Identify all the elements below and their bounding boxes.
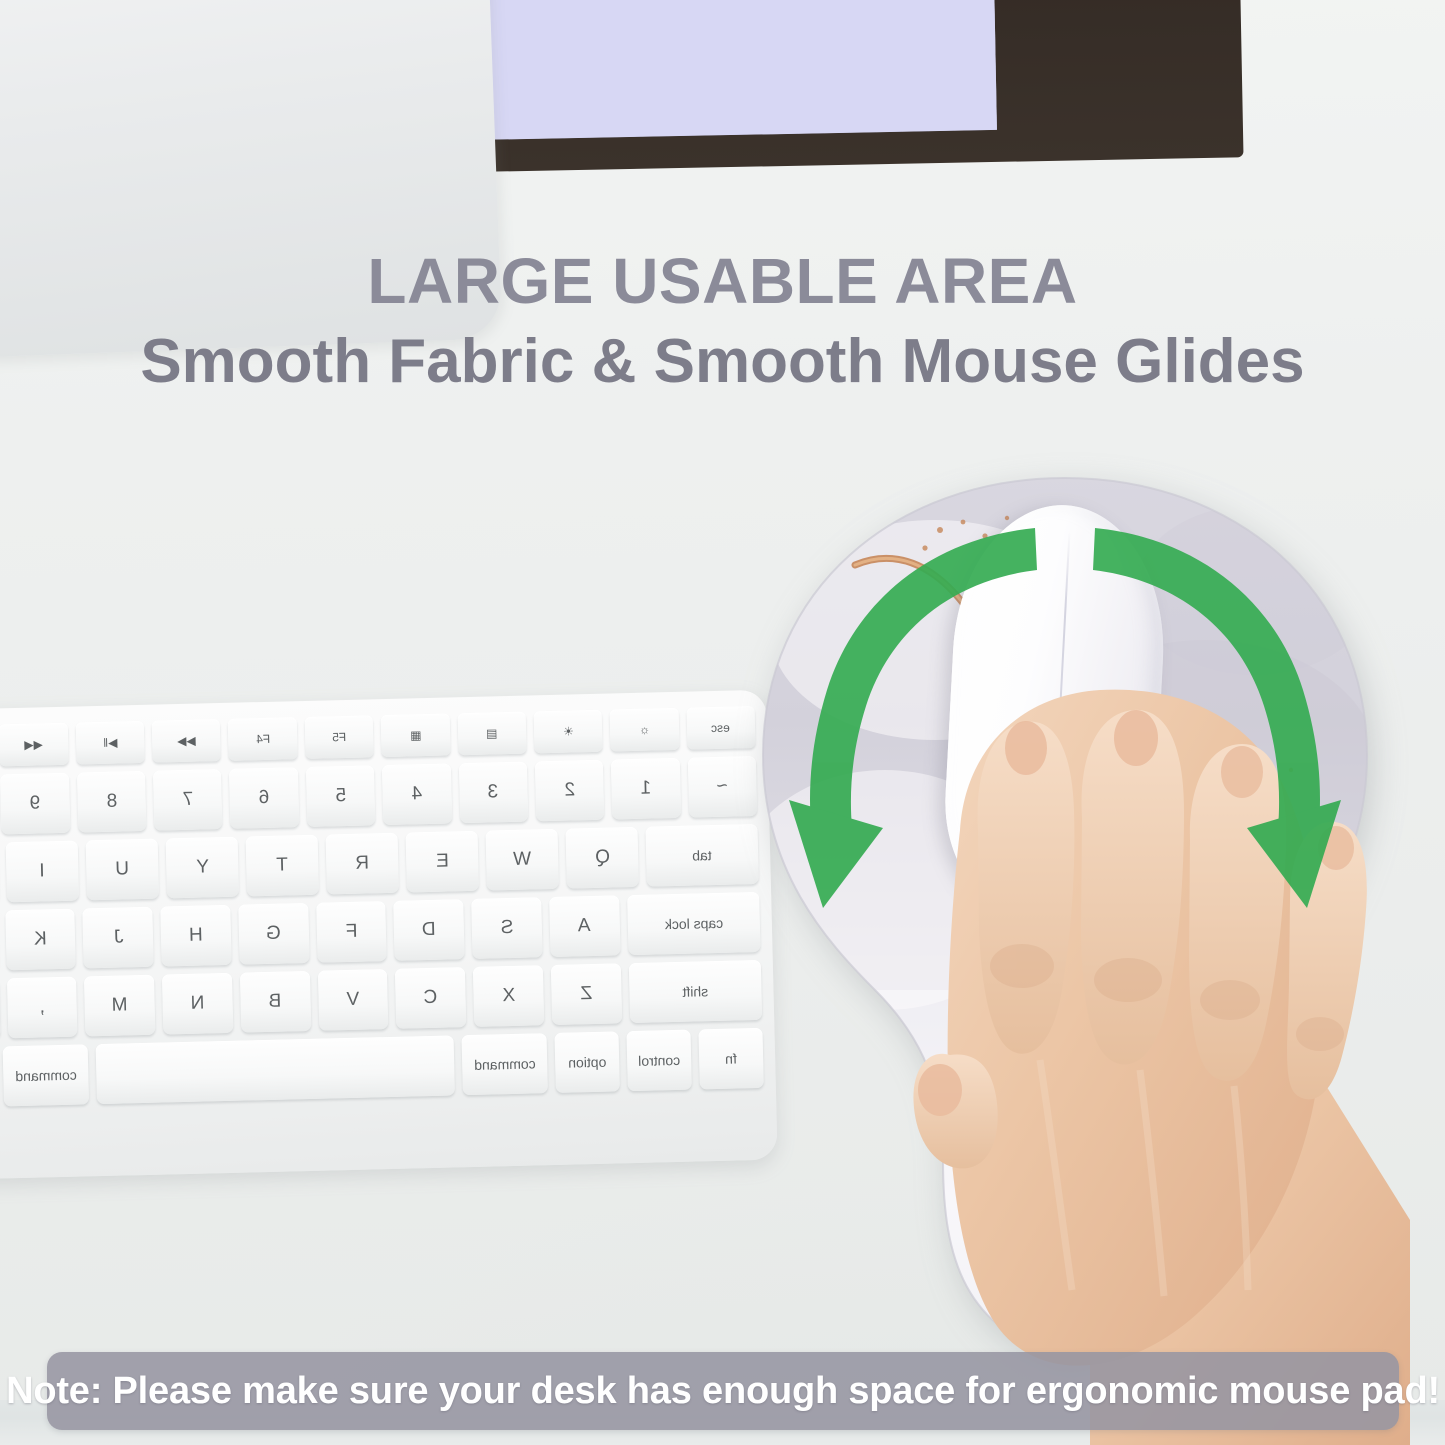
key-label: N — [191, 993, 205, 1015]
key-label: J — [113, 926, 123, 948]
key-9: 9 — [0, 773, 70, 835]
key-label: D — [422, 919, 436, 941]
key-label: ◀◀ — [24, 737, 43, 751]
key-f7-rewind: ▶▶ — [152, 719, 221, 763]
key-4: 4 — [382, 763, 452, 825]
headline-block: LARGE USABLE AREA Smooth Fabric & Smooth… — [0, 248, 1445, 401]
keyboard-top-letter-row: tab Q W E R T Y U I O — [0, 824, 759, 904]
key-x: X — [473, 965, 544, 1027]
key-label: ▦ — [410, 728, 422, 742]
key-label: 7 — [182, 789, 193, 811]
key-label: esc — [711, 721, 730, 735]
keyboard-key-rows: esc ☼ ☀ ▤ ▦ F5 F4 ▶▶ ▶‖ ◀◀ ▶ ~ 1 2 3 4 5… — [0, 736, 765, 1156]
key-s: S — [471, 897, 542, 959]
key-label: 6 — [259, 787, 270, 809]
headline-primary: LARGE USABLE AREA — [0, 248, 1445, 315]
key-f3-mission-control: ▤ — [457, 712, 526, 756]
key-n: N — [162, 973, 233, 1035]
key-7: 7 — [153, 769, 223, 831]
key-i: I — [6, 841, 79, 903]
key-label: 2 — [564, 779, 575, 801]
middle-fingernail — [1114, 710, 1158, 766]
key-label: tab — [692, 847, 712, 863]
key-v: V — [318, 969, 389, 1031]
key-label: W — [513, 848, 531, 870]
key-label: S — [500, 917, 513, 939]
key-label: shift — [682, 983, 708, 1000]
key-label: 3 — [488, 781, 499, 803]
key-label: G — [266, 923, 281, 945]
key-f: F — [316, 901, 387, 963]
keyboard-modifier-row: fn control option command command o — [0, 1028, 764, 1108]
key-label: 4 — [411, 783, 422, 805]
key-label: ☀ — [563, 724, 574, 738]
key-c: C — [395, 967, 466, 1029]
key-label: ☼ — [639, 723, 650, 737]
key-5: 5 — [306, 765, 376, 827]
hand-on-mouse — [790, 500, 1410, 1445]
key-label: I — [40, 860, 46, 882]
key-command-left: command — [3, 1044, 89, 1106]
key-m: M — [84, 975, 155, 1037]
hand-svg — [790, 500, 1410, 1445]
key-label: ▶‖ — [103, 736, 118, 750]
product-marketing-image: Jan Feb Mar Apr M Major Products — [0, 0, 1445, 1445]
key-label: Z — [580, 983, 592, 1005]
key-label: command — [15, 1067, 77, 1084]
key-q: Q — [566, 827, 639, 889]
key-f1-brightness-down: ☼ — [610, 708, 679, 752]
key-3: 3 — [458, 762, 528, 824]
note-banner-text: Note: Please make sure your desk has eno… — [6, 1370, 1440, 1413]
key-label: U — [115, 858, 129, 880]
key-label: R — [355, 852, 369, 874]
key-option-right: option — [554, 1031, 619, 1093]
key-1: 1 — [611, 758, 681, 820]
key-control: control — [626, 1030, 691, 1092]
key-f5: F5 — [305, 715, 374, 759]
computer-monitor: Jan Feb Mar Apr M Major Products — [0, 0, 1244, 183]
key-z: Z — [551, 963, 622, 1025]
key-label: M — [112, 994, 128, 1016]
key-f4-launchpad: ▦ — [381, 713, 450, 757]
key-label: 1 — [640, 778, 651, 800]
key-w: W — [486, 829, 559, 891]
key-label: A — [578, 915, 591, 937]
headline-secondary: Smooth Fabric & Smooth Mouse Glides — [0, 323, 1445, 401]
key-t: T — [246, 835, 319, 897]
keyboard-home-row: caps lock A S D F G H J K L — [0, 892, 761, 972]
key-e: E — [406, 831, 479, 893]
key-label: K — [34, 928, 47, 950]
key-b: B — [240, 971, 311, 1033]
key-u: U — [86, 839, 159, 901]
key-label: ~ — [716, 776, 728, 798]
key-label: V — [346, 989, 359, 1011]
apple-keyboard: esc ☼ ☀ ▤ ▦ F5 F4 ▶▶ ▶‖ ◀◀ ▶ ~ 1 2 3 4 5… — [0, 690, 778, 1181]
key-label: F — [345, 921, 357, 943]
key-h: H — [160, 905, 231, 967]
keyboard-number-row: ~ 1 2 3 4 5 6 7 8 9 0 — [0, 756, 757, 836]
key-label: H — [189, 925, 203, 947]
key-f9-forward: ◀◀ — [0, 723, 69, 767]
key-g: G — [238, 903, 309, 965]
key-label: E — [436, 850, 449, 872]
keyboard-bottom-letter-row: shift Z X C V B N M , . — [0, 960, 762, 1040]
key-label: ▶▶ — [177, 734, 196, 748]
key-label: C — [424, 987, 438, 1009]
key-label: command — [474, 1055, 536, 1072]
key-label: T — [276, 854, 288, 876]
key-label: Y — [196, 856, 209, 878]
ring-fingernail — [1221, 746, 1263, 798]
key-label: ▤ — [486, 726, 498, 740]
key-spacebar — [95, 1035, 455, 1104]
little-fingernail — [1318, 826, 1354, 870]
key-label: B — [269, 991, 282, 1013]
key-label: Q — [595, 847, 610, 869]
key-2: 2 — [535, 760, 605, 822]
key-f8-playpause: ▶‖ — [75, 721, 144, 765]
key-r: R — [326, 833, 399, 895]
key-d: D — [394, 899, 465, 961]
thumbnail — [918, 1064, 962, 1116]
key-label: 5 — [335, 785, 346, 807]
key-6: 6 — [229, 767, 299, 829]
index-fingernail — [1005, 721, 1047, 775]
key-label: X — [502, 985, 515, 1007]
key-k: K — [5, 909, 76, 971]
key-8: 8 — [77, 771, 147, 833]
key-f6: F4 — [228, 717, 297, 761]
key-label: control — [638, 1052, 680, 1069]
key-a: A — [549, 895, 620, 957]
key-command-right: command — [462, 1033, 548, 1095]
key-label: F5 — [332, 730, 346, 744]
key-comma: , — [7, 977, 78, 1039]
key-label: , — [39, 996, 45, 1018]
key-label: option — [568, 1054, 607, 1071]
key-label: 9 — [30, 792, 41, 814]
key-label: 8 — [106, 791, 117, 813]
key-j: J — [83, 907, 154, 969]
key-label: F4 — [256, 732, 270, 746]
key-f2-brightness-up: ☀ — [534, 710, 603, 754]
note-banner: Note: Please make sure your desk has eno… — [47, 1352, 1399, 1430]
key-y: Y — [166, 837, 239, 899]
key-label: caps lock — [664, 915, 723, 932]
